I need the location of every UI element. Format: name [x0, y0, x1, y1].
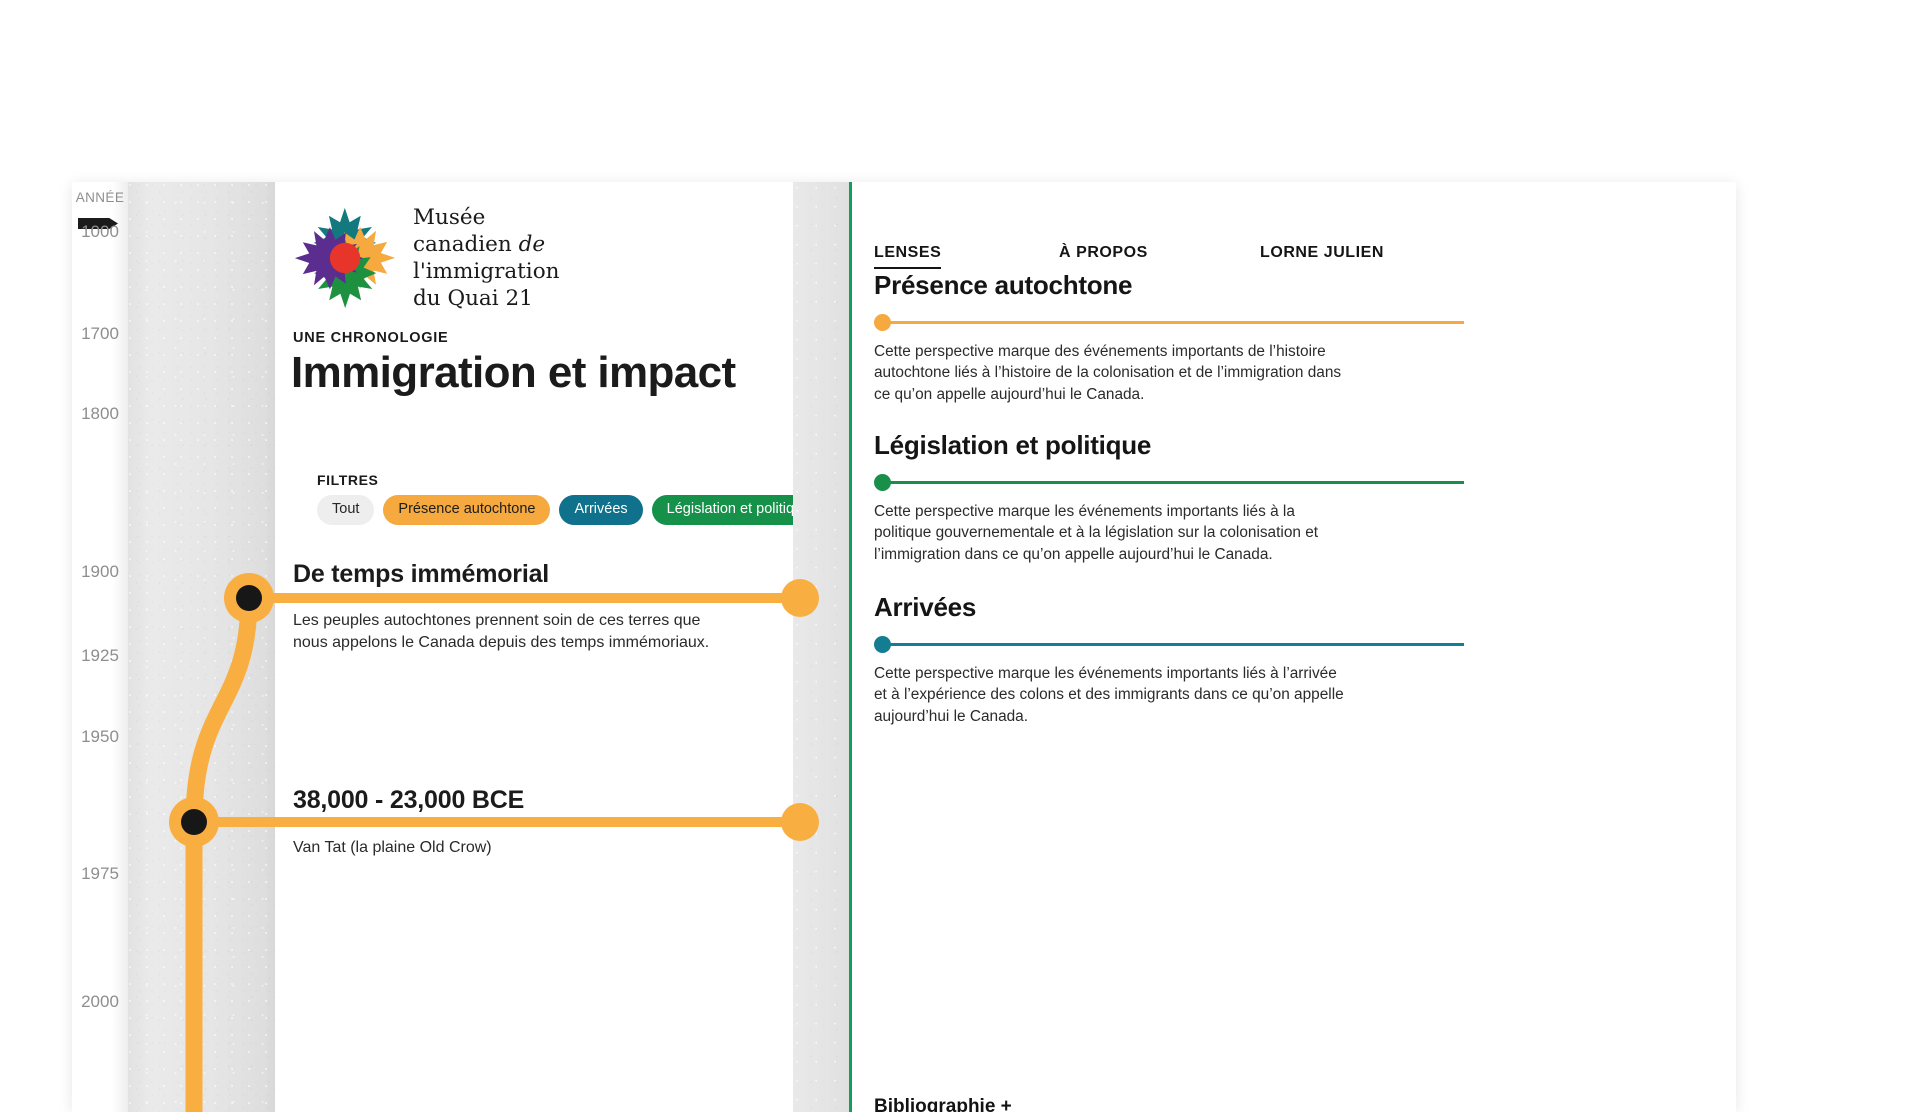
lens-line — [888, 643, 1464, 646]
filter-chip-3[interactable]: Législation et politique — [652, 495, 793, 525]
lens-description: Cette perspective marque des événements … — [874, 341, 1344, 405]
lenses-panel: LENSESÀ PROPOSLORNE JULIEN Présence auto… — [852, 182, 1736, 1112]
lens-title: Présence autochtone — [874, 270, 1464, 301]
year-tick-1900: 1900 — [72, 562, 128, 582]
museum-logo-lockup[interactable]: Musée canadien de l'immigration du Quai … — [293, 204, 559, 312]
logo-line-1: Musée — [413, 204, 559, 231]
timeline-entry-title: De temps immémorial — [293, 560, 549, 589]
logo-line-3: l'immigration — [413, 258, 559, 285]
year-tick-2000: 2000 — [72, 992, 128, 1012]
lens-section: ArrivéesCette perspective marque les évé… — [874, 592, 1464, 727]
filter-chip-group: ToutPrésence autochtoneArrivéesLégislati… — [317, 495, 793, 525]
maple-leaf-rosette-logo-icon — [293, 206, 397, 310]
year-tick-1700: 1700 — [72, 324, 128, 344]
filter-chip-2[interactable]: Arrivées — [559, 495, 642, 525]
year-axis-rail: ANNÉE 10001700180019001925195019752000 — [72, 182, 128, 1112]
timeline-app-card: ANNÉE 10001700180019001925195019752000 M… — [72, 182, 1736, 1112]
lens-description: Cette perspective marque les événements … — [874, 501, 1344, 565]
lens-rule — [874, 471, 1464, 493]
lens-rule — [874, 633, 1464, 655]
nav-item-lenses[interactable]: LENSES — [874, 244, 941, 269]
timeline-entry-body: Van Tat (la plaine Old Crow) — [293, 837, 713, 859]
year-axis-label: ANNÉE — [72, 190, 128, 205]
lens-title: Arrivées — [874, 592, 1464, 623]
panel-divider — [849, 182, 852, 1112]
nav-item-lorne-julien[interactable]: LORNE JULIEN — [1260, 244, 1384, 267]
lens-rule — [874, 311, 1464, 333]
museum-logo-wordmark: Musée canadien de l'immigration du Quai … — [413, 204, 559, 312]
year-tick-1950: 1950 — [72, 727, 128, 747]
bibliography-toggle[interactable]: Bibliographie + — [874, 1096, 1012, 1112]
year-tick-1800: 1800 — [72, 404, 128, 424]
lens-line — [888, 481, 1464, 484]
lens-title: Législation et politique — [874, 430, 1464, 461]
lens-line — [888, 321, 1464, 324]
lens-description: Cette perspective marque les événements … — [874, 663, 1344, 727]
timeline-track-right-strip — [793, 182, 849, 1112]
timeline-entry-body: Les peuples autochtones prennent soin de… — [293, 610, 713, 654]
year-tick-1925: 1925 — [72, 646, 128, 666]
page-title: Immigration et impact — [291, 348, 736, 398]
timeline-entry-title: 38,000 - 23,000 BCE — [293, 786, 524, 815]
timeline-content-column: Musée canadien de l'immigration du Quai … — [275, 182, 793, 1112]
year-tick-1000: 1000 — [72, 222, 128, 242]
filter-chip-1[interactable]: Présence autochtone — [383, 495, 550, 525]
filters-label: FILTRES — [317, 472, 379, 488]
year-tick-1975: 1975 — [72, 864, 128, 884]
timeline-track-background — [128, 182, 275, 1112]
lens-section: Législation et politiqueCette perspectiv… — [874, 430, 1464, 565]
logo-line-4: du Quai 21 — [413, 285, 559, 312]
logo-center-dot — [330, 243, 360, 273]
lens-section: Présence autochtoneCette perspective mar… — [874, 270, 1464, 405]
filter-chip-0[interactable]: Tout — [317, 495, 374, 525]
top-navigation: LENSESÀ PROPOSLORNE JULIEN — [874, 244, 1474, 272]
nav-item-propos[interactable]: À PROPOS — [1059, 244, 1148, 267]
page-eyebrow: UNE CHRONOLOGIE — [293, 330, 448, 346]
logo-line-2: canadien de — [413, 231, 559, 258]
